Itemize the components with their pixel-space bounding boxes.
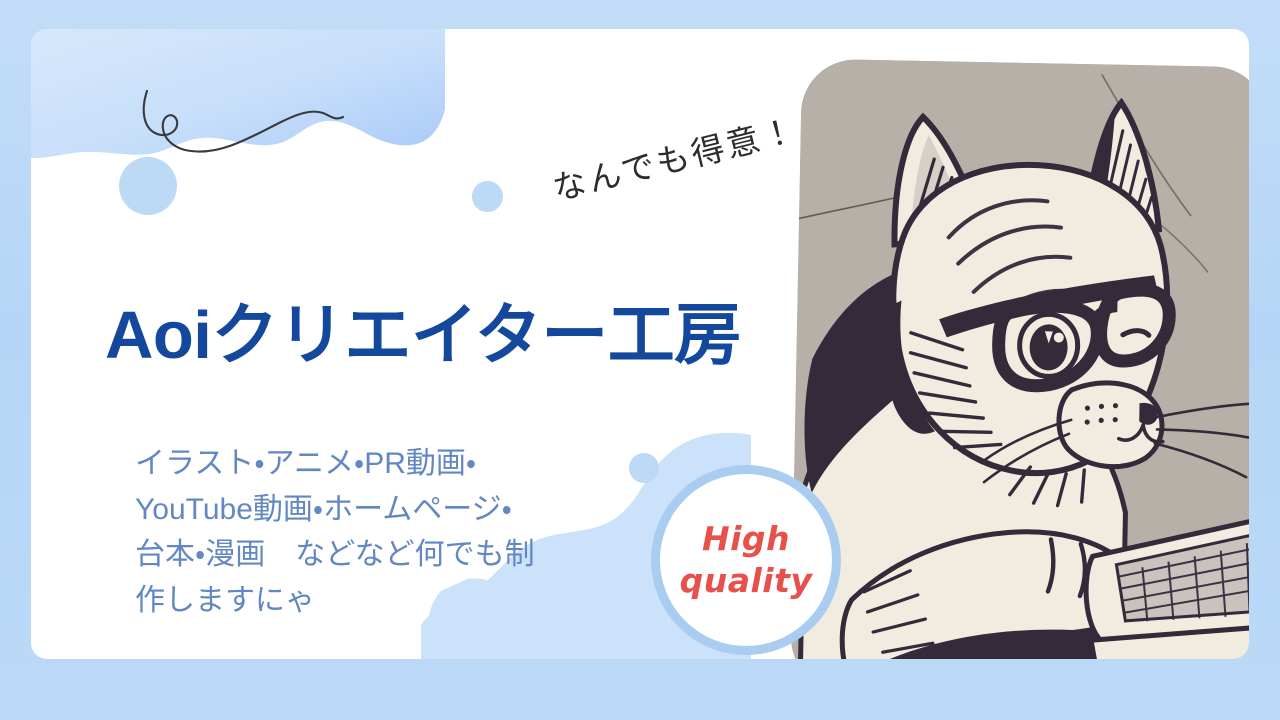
description-line: YouTube動画・ホームページ・ (135, 487, 675, 533)
catch-copy-group: なんでも得意！ (553, 125, 853, 255)
decorative-dot-small (472, 181, 503, 212)
description-text: イラスト・アニメ・PR動画・ YouTube動画・ホームページ・ 台本・漫画 な… (135, 441, 675, 623)
description-line: 作しますにゃ (135, 578, 675, 624)
squiggle-line-icon (139, 87, 349, 172)
badge-line-2: quality (680, 560, 813, 602)
catch-copy-text: なんでも得意！ (547, 103, 802, 210)
page-title: Aoiクリエイター工房 (105, 302, 741, 369)
high-quality-badge: High quality (651, 465, 841, 655)
description-line: イラスト・アニメ・PR動画・ (135, 441, 675, 487)
badge-line-1: High (702, 518, 790, 560)
cat-illustration (790, 59, 1249, 659)
promo-banner: Aoiクリエイター工房 なんでも得意！ イラスト・アニメ・PR動画・ YouTu… (0, 0, 1280, 720)
content-card: Aoiクリエイター工房 なんでも得意！ イラスト・アニメ・PR動画・ YouTu… (31, 29, 1249, 659)
description-line: 台本・漫画 などなど何でも制 (135, 532, 675, 578)
